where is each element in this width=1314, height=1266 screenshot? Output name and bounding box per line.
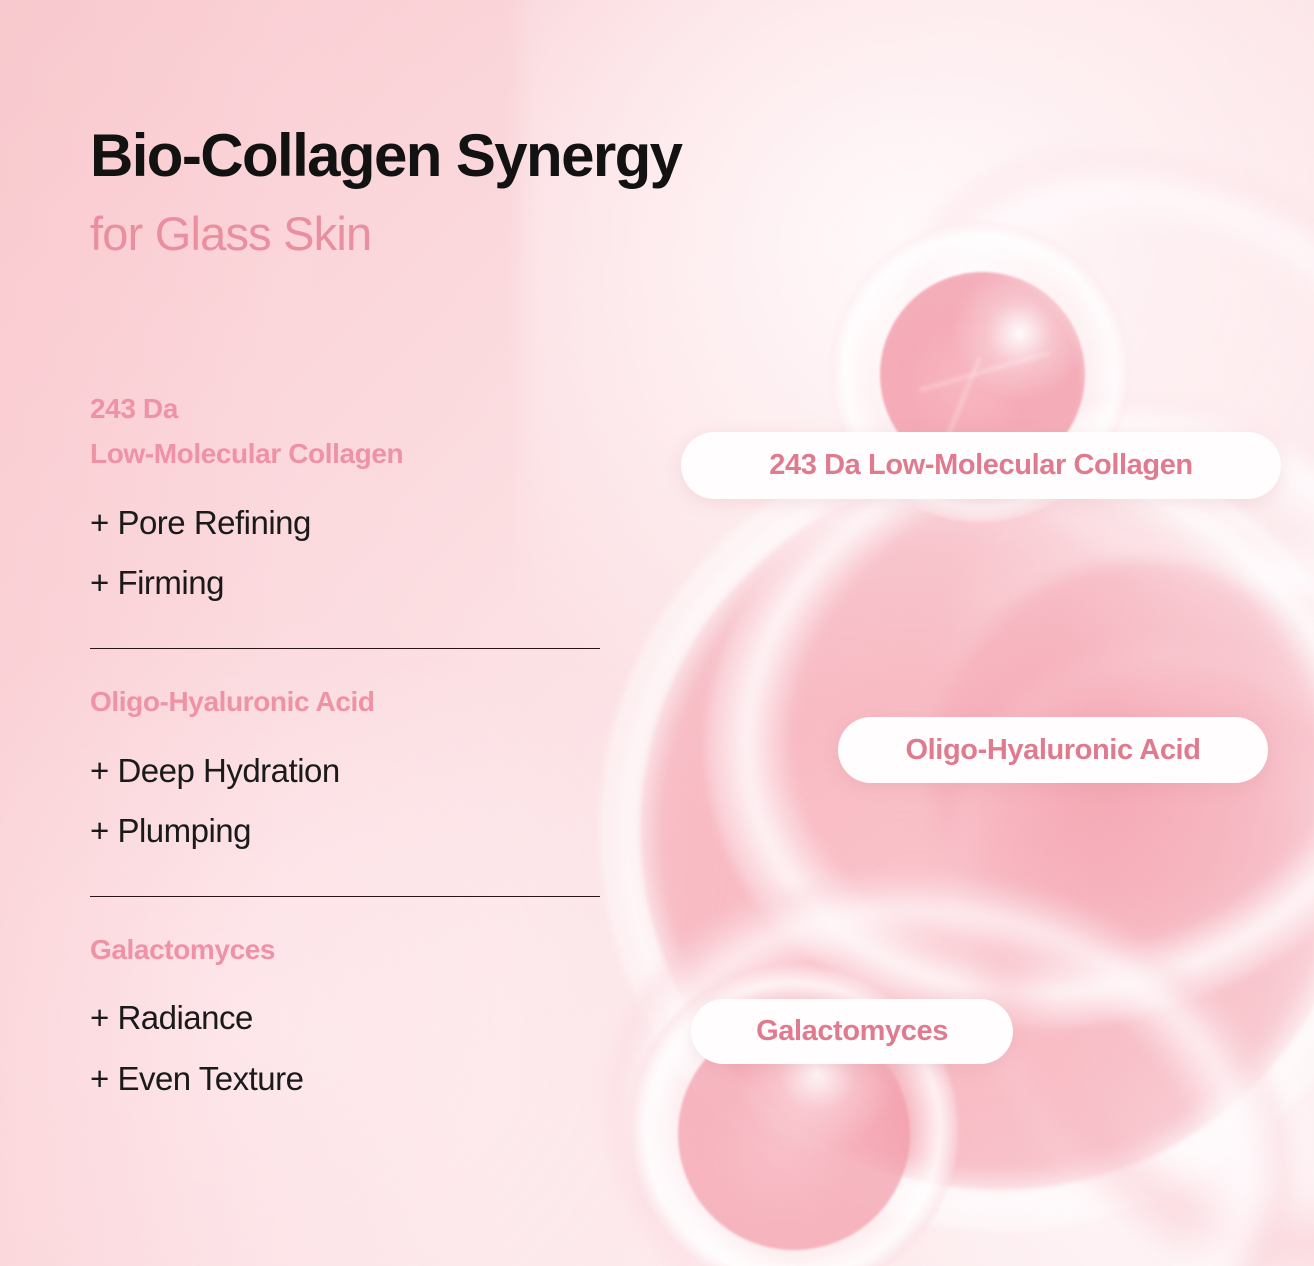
ingredient-block-galactomyces: Galactomyces + Radiance + Even Texture xyxy=(90,927,610,1110)
ingredient-block-collagen: 243 Da Low-Molecular Collagen + Pore Ref… xyxy=(90,386,610,614)
benefit-item: + Radiance xyxy=(90,988,610,1049)
page-title: Bio-Collagen Synergy xyxy=(90,124,681,189)
callout-pill-label: Galactomyces xyxy=(756,1015,948,1048)
benefit-list-galactomyces: + Radiance + Even Texture xyxy=(90,988,610,1109)
section-divider xyxy=(90,648,600,649)
callout-pill-label: Oligo-Hyaluronic Acid xyxy=(905,734,1200,767)
benefit-item: + Deep Hydration xyxy=(90,741,610,802)
ingredient-list: 243 Da Low-Molecular Collagen + Pore Ref… xyxy=(90,386,610,1110)
section-divider xyxy=(90,896,600,897)
benefit-list-collagen: + Pore Refining + Firming xyxy=(90,493,610,614)
benefit-list-hyaluronic: + Deep Hydration + Plumping xyxy=(90,741,610,862)
callout-pill-collagen: 243 Da Low-Molecular Collagen xyxy=(681,432,1281,499)
callout-pill-hyaluronic: Oligo-Hyaluronic Acid xyxy=(838,717,1268,783)
benefit-item: + Plumping xyxy=(90,801,610,862)
ingredient-heading-collagen: 243 Da Low-Molecular Collagen xyxy=(90,386,610,477)
callout-pill-galactomyces: Galactomyces xyxy=(691,999,1013,1064)
ingredient-heading-hyaluronic: Oligo-Hyaluronic Acid xyxy=(90,679,610,724)
page-subtitle: for Glass Skin xyxy=(90,208,371,260)
benefit-item: + Even Texture xyxy=(90,1049,610,1110)
ingredient-block-hyaluronic: Oligo-Hyaluronic Acid + Deep Hydration +… xyxy=(90,679,610,862)
benefit-item: + Firming xyxy=(90,553,610,614)
benefit-item: + Pore Refining xyxy=(90,493,610,554)
ingredient-heading-galactomyces: Galactomyces xyxy=(90,927,610,972)
content-layer: Bio-Collagen Synergy for Glass Skin 243 … xyxy=(0,0,1314,1266)
callout-pill-label: 243 Da Low-Molecular Collagen xyxy=(769,449,1193,482)
